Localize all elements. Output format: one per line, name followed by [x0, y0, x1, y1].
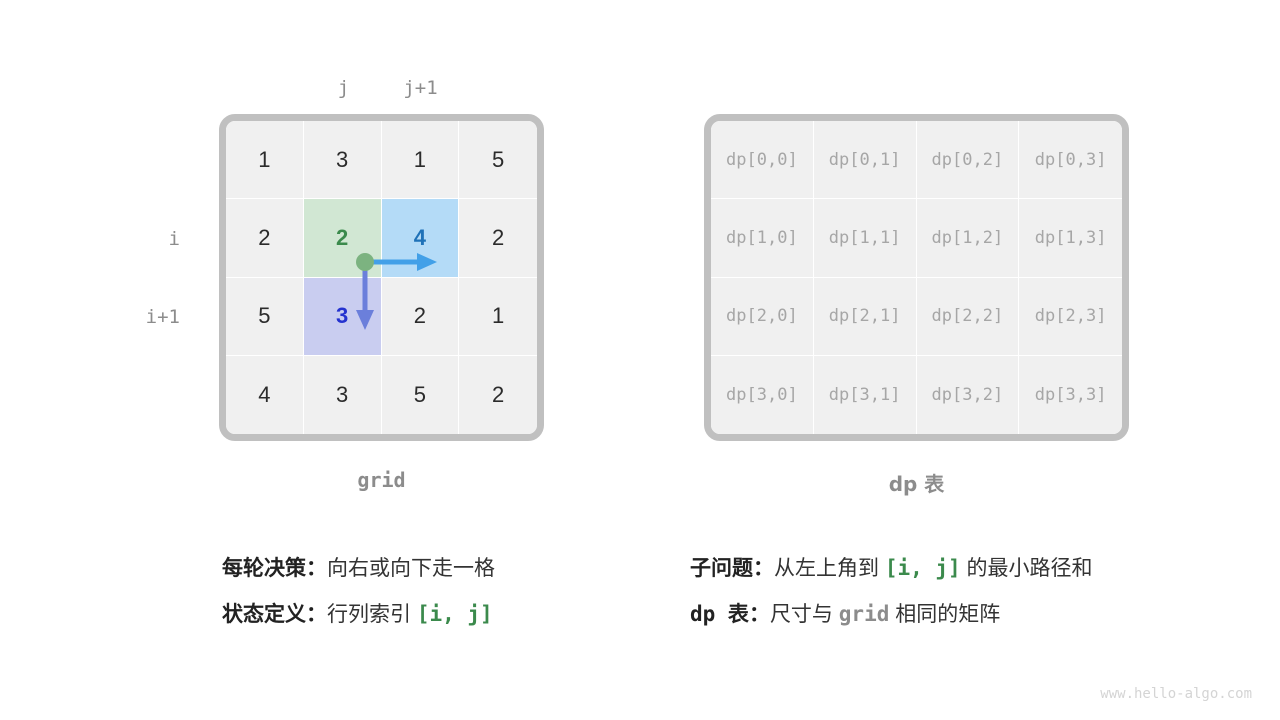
dp-caption: dp 表 [704, 468, 1129, 497]
note-decision-text: 向右或向下走一格 [327, 557, 495, 580]
note-dp-table-code: grid [839, 602, 890, 626]
note-subproblem-text-b: 的最小路径和 [961, 557, 1093, 580]
grid-column-labels: j j+1 [305, 77, 459, 99]
grid-cell: 2 [226, 199, 304, 277]
note-subproblem: 子问题：从左上角到 [i, j] 的最小路径和 [690, 558, 1093, 579]
dp-cell: dp[2,1] [814, 278, 917, 356]
grid-cell: 5 [459, 121, 537, 199]
dp-cell: dp[0,1] [814, 121, 917, 199]
dp-cell: dp[0,0] [711, 121, 814, 199]
grid-cell: 2 [304, 199, 382, 277]
dp-cell: dp[2,0] [711, 278, 814, 356]
note-dp-table-sep: ： [749, 603, 770, 626]
note-state-code: [i, j] [417, 602, 493, 626]
dp-cell: dp[2,3] [1019, 278, 1122, 356]
dp-cell: dp[3,1] [814, 356, 917, 434]
note-subproblem-label: 子问题 [690, 557, 753, 580]
note-state-sep: ： [306, 603, 327, 626]
note-decision-sep: ： [306, 557, 327, 580]
note-state: 状态定义：行列索引 [i, j] [222, 604, 493, 625]
grid-cell: 1 [226, 121, 304, 199]
note-decision-label: 每轮决策 [222, 557, 306, 580]
note-state-text: 行列索引 [327, 603, 417, 626]
dp-cell: dp[0,2] [917, 121, 1020, 199]
grid-matrix: 1315224253214352 [219, 114, 544, 441]
dp-cell: dp[3,2] [917, 356, 1020, 434]
note-subproblem-sep: ： [753, 557, 774, 580]
note-state-label: 状态定义 [222, 603, 306, 626]
note-decision: 每轮决策：向右或向下走一格 [222, 558, 495, 579]
note-subproblem-code: [i, j] [885, 556, 961, 580]
grid-cell: 5 [382, 356, 460, 434]
dp-cell: dp[0,3] [1019, 121, 1122, 199]
row-label-i-plus-1: i+1 [120, 306, 180, 328]
note-dp-table-label: dp 表 [690, 602, 749, 626]
grid-cell: 4 [226, 356, 304, 434]
column-label-j-plus-1: j+1 [382, 77, 459, 99]
grid-cell: 2 [459, 199, 537, 277]
grid-cell: 1 [382, 121, 460, 199]
dp-cell: dp[2,2] [917, 278, 1020, 356]
watermark: www.hello-algo.com [1100, 686, 1252, 702]
grid-cell: 2 [459, 356, 537, 434]
row-label-i: i [120, 228, 180, 250]
dp-matrix: dp[0,0]dp[0,1]dp[0,2]dp[0,3]dp[1,0]dp[1,… [704, 114, 1129, 441]
dp-cell: dp[3,0] [711, 356, 814, 434]
dp-cell: dp[1,0] [711, 199, 814, 277]
column-label-j: j [305, 77, 382, 99]
grid-cell: 2 [382, 278, 460, 356]
note-dp-table-text-b: 相同的矩阵 [889, 603, 1000, 626]
dp-cell: dp[1,1] [814, 199, 917, 277]
dp-cell: dp[1,3] [1019, 199, 1122, 277]
grid-cell: 3 [304, 278, 382, 356]
grid-cell: 4 [382, 199, 460, 277]
note-subproblem-text-a: 从左上角到 [774, 557, 885, 580]
grid-cell: 3 [304, 356, 382, 434]
grid-cell: 5 [226, 278, 304, 356]
note-dp-table-text-a: 尺寸与 [770, 603, 839, 626]
note-dp-table: dp 表：尺寸与 grid 相同的矩阵 [690, 604, 1000, 625]
grid-caption: grid [219, 468, 544, 492]
dp-cell: dp[3,3] [1019, 356, 1122, 434]
grid-cell: 3 [304, 121, 382, 199]
dp-cell: dp[1,2] [917, 199, 1020, 277]
grid-cell: 1 [459, 278, 537, 356]
